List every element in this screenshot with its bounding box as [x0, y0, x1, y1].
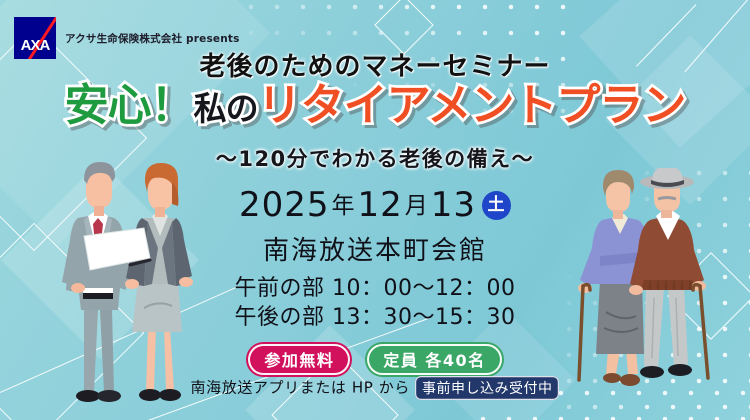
- event-date: 2025 年 12 月 13 土: [0, 188, 750, 224]
- presenter-text: アクサ生命保険株式会社 presents: [65, 31, 240, 46]
- venue-name: 南海放送本町会館: [0, 230, 750, 267]
- date-month: 12: [358, 188, 403, 224]
- date-year-unit: 年: [332, 194, 356, 218]
- footer-note-text: 南海放送アプリまたは HP から: [191, 379, 410, 397]
- seminar-poster: AXA アクサ生命保険株式会社 presents 老後のためのマネーセミナー 安…: [0, 0, 750, 420]
- main-title-part1: 安心！: [65, 80, 194, 131]
- badge-row: 参加無料 定員 各40名: [0, 342, 750, 377]
- badge-capacity: 定員 各40名: [365, 342, 503, 377]
- main-title-part3: リタイアメントプラン: [258, 80, 686, 131]
- footer-highlight-badge: 事前申し込み受付中: [415, 376, 560, 400]
- main-title-part2: 私の: [194, 89, 258, 128]
- date-year: 2025: [239, 188, 330, 224]
- date-day: 13: [431, 188, 476, 224]
- subtitle-text: 〜120分でわかる老後の備え〜: [0, 143, 750, 173]
- date-month-unit: 月: [405, 194, 429, 218]
- kicker-text: 老後のためのマネーセミナー: [0, 46, 750, 83]
- footer-note: 南海放送アプリまたは HP から事前申し込み受付中: [0, 376, 750, 400]
- weekday-badge: 土: [482, 191, 511, 220]
- session-afternoon: 午後の部 13：30〜15：30: [0, 303, 750, 332]
- session-times: 午前の部 10：00〜12：00 午後の部 13：30〜15：30: [0, 274, 750, 332]
- session-morning: 午前の部 10：00〜12：00: [0, 274, 750, 303]
- event-details: 2025 年 12 月 13 土 南海放送本町会館 午前の部 10：00〜12：…: [0, 188, 750, 377]
- badge-free-entry: 参加無料: [246, 342, 352, 377]
- main-title: 安心！私のリタイアメントプラン: [0, 84, 750, 128]
